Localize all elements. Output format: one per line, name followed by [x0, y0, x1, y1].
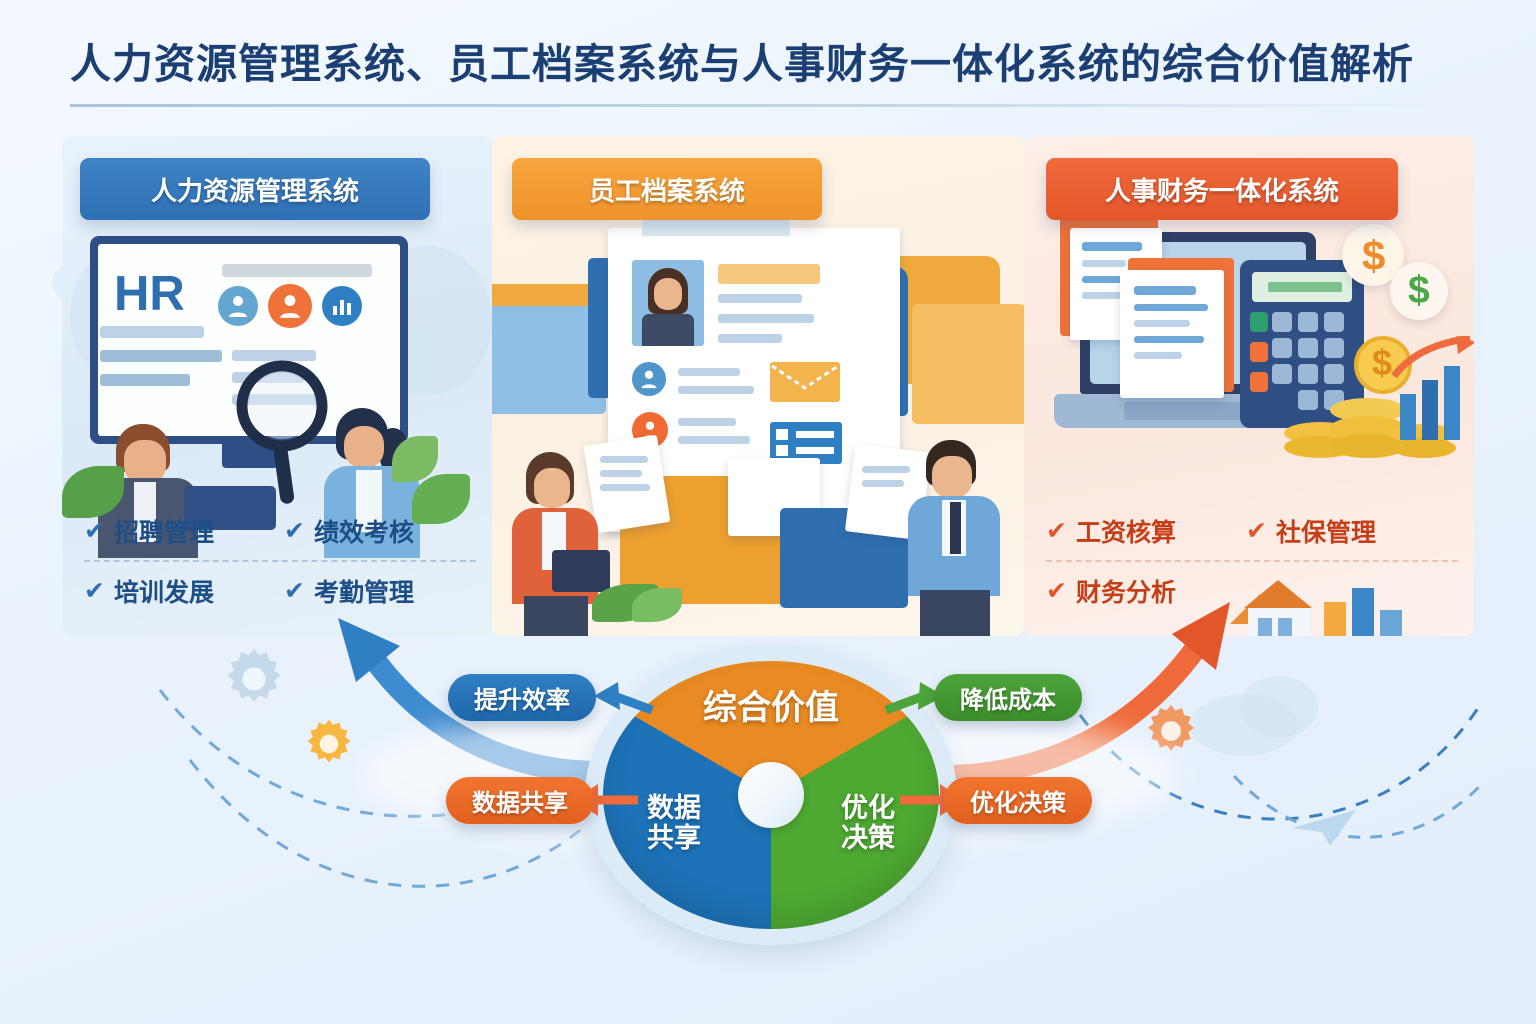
doc-text-bar: [1134, 320, 1190, 327]
feature-label: 社保管理: [1276, 513, 1376, 549]
card-highlight-bar: [718, 264, 820, 284]
pill-label: 优化决策: [970, 783, 1066, 818]
card-text-bar: [678, 368, 740, 376]
page-title: 人力资源管理系统、员工档案系统与人事财务一体化系统的综合价值解析: [70, 42, 1470, 87]
panel-hrms[interactable]: HR: [62, 136, 492, 636]
feature-label: 考勤管理: [314, 573, 414, 609]
card-text-bar: [718, 334, 782, 343]
wheel-segment-right-line2: 决策: [813, 823, 923, 853]
title-block: 人力资源管理系统、员工档案系统与人事财务一体化系统的综合价值解析: [70, 42, 1470, 107]
doc-text-bar: [600, 456, 648, 463]
check-icon: ✔: [284, 579, 305, 604]
envelope-icon: [770, 362, 840, 402]
doc-text-bar: [862, 480, 904, 487]
card-text-bar: [718, 294, 802, 303]
panel-banner-label: 人力资源管理系统: [151, 171, 359, 208]
panel-banner-finance[interactable]: 人事财务一体化系统: [1046, 158, 1398, 220]
feature-item[interactable]: ✔ 招聘管理: [84, 513, 256, 549]
panel-banner-hrms[interactable]: 人力资源管理系统: [80, 158, 430, 220]
panel-hr-finance[interactable]: $ $ $ 人事财务一体化系统: [1024, 136, 1474, 636]
screen-hr-label: HR: [114, 266, 185, 322]
avatar-icon: [228, 294, 248, 318]
panel-banner-label: 员工档案系统: [589, 171, 745, 208]
feature-item[interactable]: ✔ 社保管理: [1246, 513, 1418, 549]
doc-text-bar: [1134, 304, 1208, 311]
avatar-icon: [640, 369, 658, 389]
screen-text-bar: [100, 350, 222, 362]
doc-text-bar: [1134, 352, 1182, 359]
check-icon: ✔: [284, 519, 305, 544]
card-text-bar: [718, 314, 814, 323]
bar-chart-icon: [1390, 336, 1474, 446]
screen-text-bar: [100, 326, 204, 338]
check-icon: ✔: [1046, 519, 1067, 544]
feature-row: ✔ 工资核算 ✔ 社保管理: [1046, 502, 1458, 562]
screen-text-bar: [222, 264, 372, 277]
infographic-canvas: 人力资源管理系统、员工档案系统与人事财务一体化系统的综合价值解析 HR: [0, 0, 1536, 1024]
feature-label: 绩效考核: [314, 513, 414, 549]
dollar-icon: $: [1362, 232, 1385, 280]
card-text-bar: [678, 436, 750, 444]
feature-item[interactable]: ✔ 培训发展: [84, 573, 256, 609]
pill-cost[interactable]: 降低成本: [934, 674, 1082, 721]
feature-label: 招聘管理: [114, 513, 214, 549]
panel-banner-records[interactable]: 员工档案系统: [512, 158, 822, 220]
pill-label: 降低成本: [960, 680, 1056, 715]
doc-text-bar: [862, 466, 910, 473]
check-icon: ✔: [84, 519, 105, 544]
avatar-icon: [279, 293, 301, 319]
doc-text-bar: [1082, 242, 1142, 251]
pill-label: 数据共享: [472, 783, 568, 818]
feature-label: 培训发展: [114, 573, 214, 609]
calculator-display-bar: [1268, 282, 1342, 292]
panel-employee-records[interactable]: 员工档案系统: [492, 136, 1024, 636]
pill-label: 提升效率: [474, 680, 570, 715]
doc-text-bar: [1082, 260, 1126, 267]
screen-text-bar: [100, 374, 190, 386]
doc-text-bar: [600, 470, 642, 477]
title-divider: [70, 104, 1440, 107]
wheel-segment-left-line2: 共享: [619, 823, 729, 853]
wheel-hub: [738, 762, 804, 828]
dashed-arc: [1230, 760, 1490, 870]
doc-text-bar: [600, 484, 650, 491]
feature-item[interactable]: ✔ 考勤管理: [284, 573, 456, 609]
wheel-arrow-to-efficiency: [592, 680, 656, 724]
pill-decision[interactable]: 优化决策: [944, 777, 1092, 824]
check-icon: ✔: [84, 579, 105, 604]
doc-text-bar: [1134, 336, 1204, 343]
card-text-bar: [678, 418, 736, 426]
feature-item[interactable]: ✔ 绩效考核: [284, 513, 456, 549]
pill-data-share[interactable]: 数据共享: [446, 777, 594, 824]
feature-item[interactable]: ✔ 工资核算: [1046, 513, 1218, 549]
feature-row: ✔ 招聘管理 ✔ 绩效考核: [84, 502, 476, 562]
feature-label: 工资核算: [1076, 513, 1176, 549]
card-text-bar: [678, 386, 754, 394]
paper-plane-icon: [1290, 806, 1360, 850]
feature-list-hrms: ✔ 招聘管理 ✔ 绩效考核 ✔ 培训发展 ✔ 考勤管理: [84, 502, 476, 620]
dollar-icon: $: [1408, 269, 1430, 313]
doc-text-bar: [1134, 286, 1196, 295]
folder-icon: [912, 304, 1024, 424]
bar-chart-icon: [332, 296, 352, 316]
panel-banner-label: 人事财务一体化系统: [1105, 171, 1339, 208]
pill-efficiency[interactable]: 提升效率: [448, 674, 596, 721]
employee-photo-body: [642, 314, 694, 346]
check-icon: ✔: [1246, 519, 1267, 544]
employee-photo-face: [654, 278, 682, 310]
